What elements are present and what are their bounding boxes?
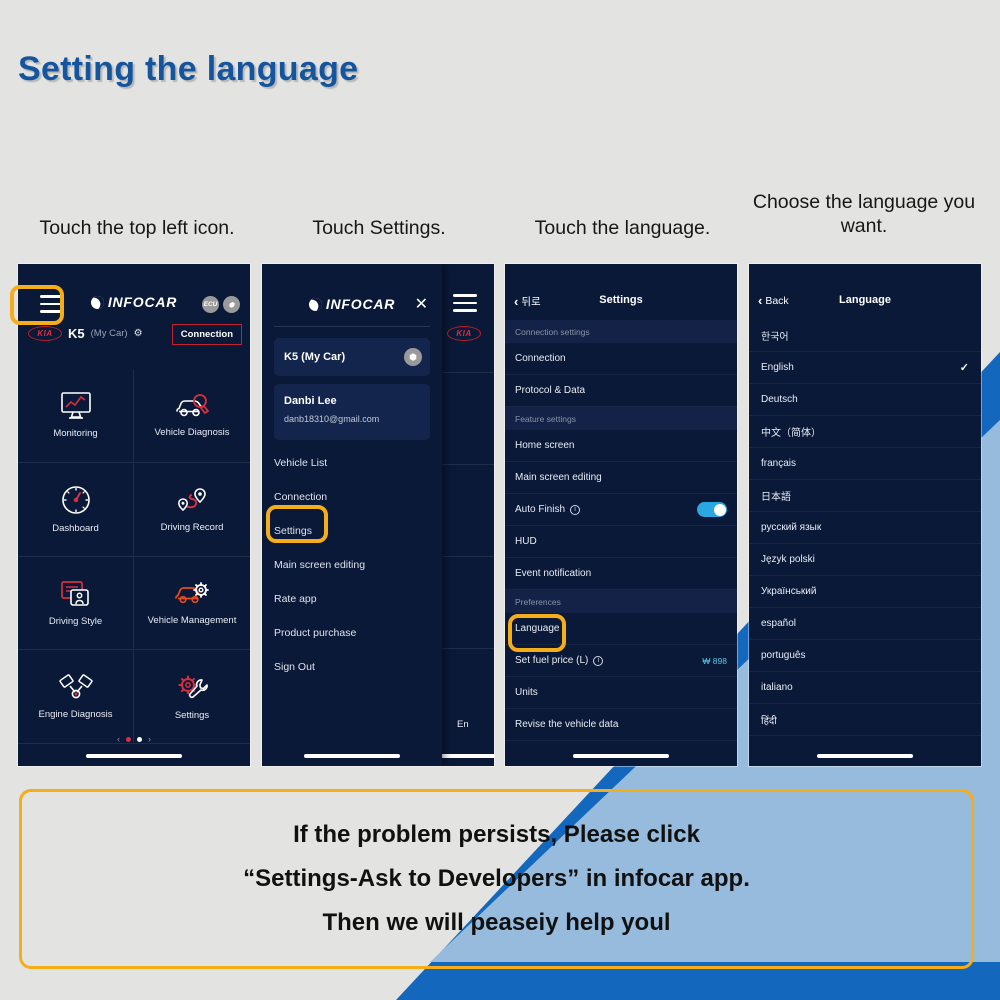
language-label: русский язык: [761, 522, 821, 533]
auto-finish-toggle[interactable]: [697, 502, 727, 517]
row-label: Revise the vehicle data: [515, 719, 618, 730]
bluetooth-icon[interactable]: ⬢: [404, 348, 422, 366]
screen-title: Language: [749, 294, 981, 306]
row-label: Protocol & Data: [515, 385, 585, 396]
bluetooth-badge[interactable]: ⬢: [223, 296, 240, 313]
tile-label: Vehicle Management: [148, 615, 237, 626]
car-magnifier-icon: [173, 392, 211, 420]
language-item-korean[interactable]: 한국어: [749, 320, 981, 352]
home-indicator: [86, 754, 182, 758]
poster-canvas: Setting the language Touch the top left …: [0, 0, 1000, 1000]
language-label: Deutsch: [761, 394, 798, 405]
highlight-box-settings: [266, 505, 328, 543]
language-item-polish[interactable]: Język polski: [749, 544, 981, 576]
language-item-french[interactable]: français: [749, 448, 981, 480]
phone-screenshot-language: ‹ Back Language 한국어 English✓ Deutsch 中文（…: [749, 264, 981, 766]
home-pager[interactable]: ‹ ›: [18, 734, 250, 744]
language-item-ukrainian[interactable]: Український: [749, 576, 981, 608]
gear-wrench-icon: [175, 673, 209, 703]
phone-screenshot-settings: ‹ 뒤로 Settings Connection settings Connec…: [505, 264, 737, 766]
close-icon[interactable]: ✕: [415, 294, 428, 314]
home-screen-peek: KIA En: [439, 264, 494, 766]
car-gear-icon: [173, 580, 211, 608]
tile-label: Monitoring: [53, 428, 97, 439]
caption-step-3: Touch the language.: [500, 216, 745, 240]
drawer-item-product-purchase[interactable]: Product purchase: [262, 616, 442, 650]
tile-driving-style[interactable]: Driving Style: [18, 557, 134, 651]
info-icon[interactable]: i: [570, 505, 580, 515]
info-icon[interactable]: i: [593, 656, 603, 666]
settings-row-home-screen[interactable]: Home screen: [505, 430, 737, 462]
language-item-hindi[interactable]: हिंदी: [749, 704, 981, 736]
gear-icon[interactable]: ⚙: [134, 328, 143, 339]
language-label: हिंदी: [761, 713, 777, 727]
check-icon: ✓: [960, 361, 969, 374]
settings-list: Connection settings Connection Protocol …: [505, 320, 737, 741]
tile-driving-record[interactable]: Driving Record: [134, 463, 250, 557]
drawer-item-main-screen-editing[interactable]: Main screen editing: [262, 548, 442, 582]
note-box: If the problem persists, Please click “S…: [19, 789, 974, 969]
peek-divider: [439, 556, 494, 557]
driver-card-icon: [59, 579, 93, 609]
peek-divider: [439, 464, 494, 465]
language-item-russian[interactable]: русский язык: [749, 512, 981, 544]
peek-divider: [439, 372, 494, 373]
row-label: Set fuel price (L): [515, 655, 588, 666]
settings-row-units[interactable]: Units: [505, 677, 737, 709]
row-label: HUD: [515, 536, 537, 547]
screen-title: Settings: [505, 294, 737, 306]
drawer-item-rate-app[interactable]: Rate app: [262, 582, 442, 616]
highlight-box-language: [508, 614, 566, 652]
language-item-english[interactable]: English✓: [749, 352, 981, 384]
language-label: italiano: [761, 682, 793, 693]
user-name: Danbi Lee: [284, 395, 337, 407]
drawer-user-card[interactable]: Danbi Lee danb18310@gmail.com: [274, 384, 430, 440]
status-badges: ECU ⬢: [202, 296, 240, 313]
tile-label: Driving Record: [161, 522, 224, 533]
row-label: Units: [515, 687, 538, 698]
language-label: English: [761, 362, 794, 373]
kia-logo: KIA: [447, 326, 481, 341]
caption-step-4: Choose the language you want.: [744, 190, 984, 239]
tile-vehicle-diagnosis[interactable]: Vehicle Diagnosis: [134, 369, 250, 463]
home-tile-grid: Monitoring Vehicle Diagnosis Dashboard D…: [18, 369, 250, 744]
note-line-2: “Settings-Ask to Developers” in infocar …: [243, 865, 750, 893]
tile-settings[interactable]: Settings: [134, 650, 250, 744]
tile-label: Engine Diagnosis: [39, 709, 113, 720]
section-header-connection: Connection settings: [505, 320, 737, 343]
row-label: Home screen: [515, 440, 574, 451]
vehicle-row[interactable]: KIA K5 (My Car) ⚙: [28, 326, 143, 341]
language-label: Język polski: [761, 554, 815, 565]
moon-icon: [307, 295, 324, 312]
infocar-wordmark: INFOCAR: [108, 294, 177, 310]
peek-tile-label: En: [457, 719, 469, 730]
vehicle-subtitle: (My Car): [91, 328, 128, 339]
tile-label: Vehicle Diagnosis: [155, 427, 230, 438]
language-item-italian[interactable]: italiano: [749, 672, 981, 704]
highlight-box-hamburger: [10, 285, 64, 325]
language-label: português: [761, 650, 805, 661]
tile-vehicle-management[interactable]: Vehicle Management: [134, 557, 250, 651]
language-item-spanish[interactable]: español: [749, 608, 981, 640]
language-item-german[interactable]: Deutsch: [749, 384, 981, 416]
settings-row-hud[interactable]: HUD: [505, 526, 737, 558]
pistons-icon: [58, 674, 94, 702]
monitor-chart-icon: [59, 391, 93, 421]
tile-label: Driving Style: [49, 616, 102, 627]
tile-dashboard[interactable]: Dashboard: [18, 463, 134, 557]
language-label: 中文（简体）: [761, 424, 821, 439]
home-indicator: [304, 754, 400, 758]
vehicle-name: K5: [68, 326, 85, 341]
language-item-japanese[interactable]: 日本語: [749, 480, 981, 512]
ecu-badge[interactable]: ECU: [202, 296, 219, 313]
language-label: français: [761, 458, 796, 469]
drawer-vehicle-card[interactable]: K5 (My Car) ⬢: [274, 338, 430, 376]
pager-prev-icon[interactable]: ‹: [117, 734, 120, 744]
settings-topbar: ‹ 뒤로 Settings: [505, 294, 737, 320]
settings-row-protocol-data[interactable]: Protocol & Data: [505, 375, 737, 407]
pager-dot-1[interactable]: [126, 737, 131, 742]
language-item-chinese[interactable]: 中文（简体）: [749, 416, 981, 448]
section-header-feature: Feature settings: [505, 407, 737, 430]
tile-label: Settings: [175, 710, 209, 721]
home-indicator: [573, 754, 669, 758]
page-title: Setting the language: [18, 50, 358, 89]
row-label: Auto Finish: [515, 504, 565, 515]
speedometer-icon: [60, 484, 92, 516]
tile-engine-diagnosis[interactable]: Engine Diagnosis: [18, 650, 134, 744]
section-header-preferences: Preferences: [505, 590, 737, 613]
language-label: Український: [761, 586, 816, 597]
phone-screenshot-home: INFOCAR ECU ⬢ KIA K5 (My Car) ⚙ Connecti…: [18, 264, 250, 766]
note-line-3: Then we will peaseiy help youl: [322, 909, 670, 937]
settings-row-event-notification[interactable]: Event notification: [505, 558, 737, 590]
caption-step-1: Touch the top left icon.: [8, 216, 266, 240]
language-label: español: [761, 618, 796, 629]
tile-monitoring[interactable]: Monitoring: [18, 369, 134, 463]
user-email: danb18310@gmail.com: [284, 414, 379, 424]
note-line-1: If the problem persists, Please click: [293, 821, 700, 849]
drawer-item-vehicle-list[interactable]: Vehicle List: [262, 446, 442, 480]
drawer-menu: Vehicle List Connection Settings Main sc…: [262, 446, 442, 684]
fuel-price-value: ₩ 898: [702, 656, 727, 666]
language-list: 한국어 English✓ Deutsch 中文（简体） français 日本語…: [749, 320, 981, 736]
infocar-wordmark: INFOCAR: [326, 296, 395, 312]
row-label: Main screen editing: [515, 472, 602, 483]
caption-step-2: Touch Settings.: [268, 216, 490, 240]
language-item-portuguese[interactable]: português: [749, 640, 981, 672]
kia-logo: KIA: [28, 326, 62, 341]
peek-divider: [439, 648, 494, 649]
settings-row-auto-finish[interactable]: Auto Finish i: [505, 494, 737, 526]
settings-row-connection[interactable]: Connection: [505, 343, 737, 375]
row-label: Event notification: [515, 568, 591, 579]
moon-icon: [89, 293, 106, 310]
connection-button[interactable]: Connection: [172, 324, 242, 345]
pager-dot-2[interactable]: [137, 737, 142, 742]
pager-next-icon[interactable]: ›: [148, 734, 151, 744]
settings-row-revise-vehicle-data[interactable]: Revise the vehicle data: [505, 709, 737, 741]
language-label: 日本語: [761, 488, 791, 503]
row-label: Connection: [515, 353, 566, 364]
hamburger-menu-icon[interactable]: [453, 294, 477, 312]
vehicle-card-label: K5 (My Car): [284, 351, 345, 363]
drawer-item-sign-out[interactable]: Sign Out: [262, 650, 442, 684]
route-pins-icon: [174, 485, 210, 515]
tile-label: Dashboard: [52, 523, 98, 534]
settings-row-main-screen-editing[interactable]: Main screen editing: [505, 462, 737, 494]
divider: [274, 326, 430, 327]
language-label: 한국어: [761, 328, 789, 343]
home-indicator: [817, 754, 913, 758]
language-topbar: ‹ Back Language: [749, 294, 981, 320]
